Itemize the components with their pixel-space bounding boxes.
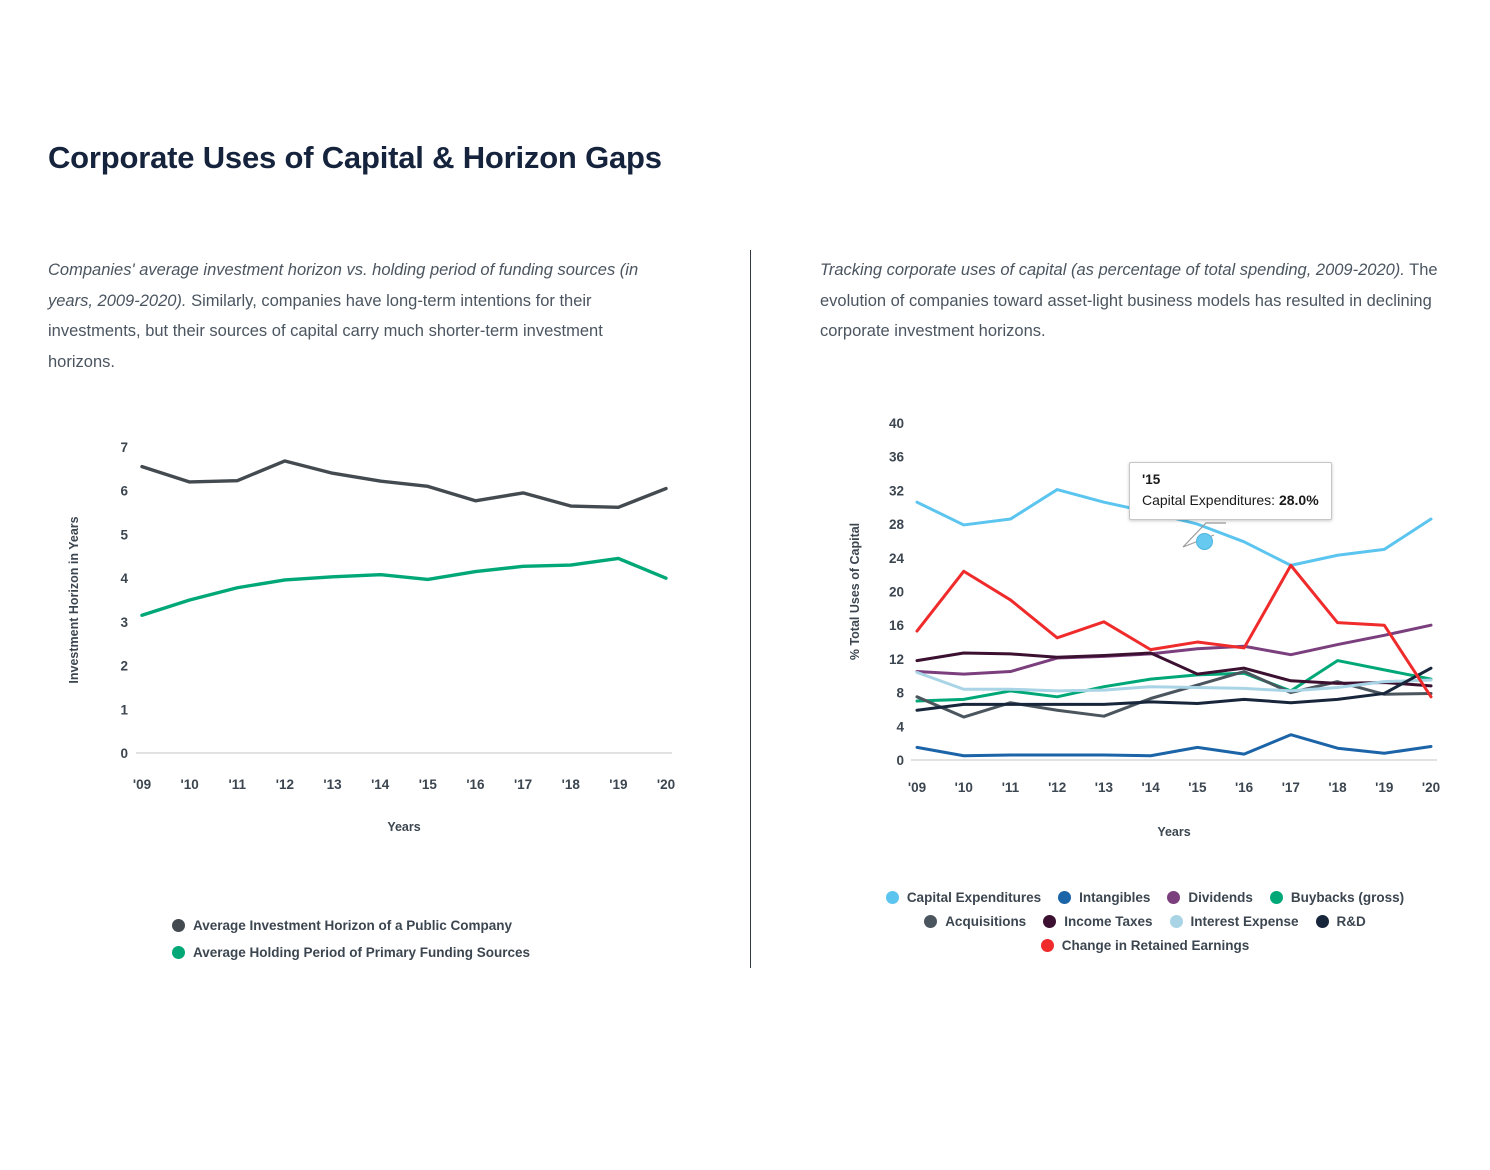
tooltip-data-point-marker: [1196, 533, 1213, 550]
legend-item-change-in-retained-earnings[interactable]: Change in Retained Earnings: [1041, 938, 1250, 953]
legend-item-label: Interest Expense: [1191, 914, 1299, 929]
series-line: [142, 461, 666, 507]
y-axis-tick-label: 28: [889, 517, 905, 532]
x-axis-tick-label: '14: [1142, 780, 1161, 795]
x-axis-tick-label: '17: [1282, 780, 1300, 795]
x-axis-tick-label: '15: [1188, 780, 1207, 795]
y-axis-tick-label: 4: [120, 571, 128, 586]
legend-item-dividends[interactable]: Dividends: [1167, 890, 1253, 905]
legend-item-label: Income Taxes: [1064, 914, 1152, 929]
legend-item-label: Average Holding Period of Primary Fundin…: [193, 945, 530, 960]
y-axis-tick-label: 36: [889, 450, 905, 465]
legend-color-dot-icon: [1043, 915, 1056, 928]
legend-item-average-holding-period-of-primary-funding-sources[interactable]: Average Holding Period of Primary Fundin…: [172, 945, 530, 960]
series-line: [917, 661, 1431, 701]
x-axis-tick-label: '18: [562, 777, 581, 792]
x-axis-title: Years: [387, 820, 420, 834]
y-axis-tick-label: 0: [120, 746, 128, 761]
x-axis-tick-label: '10: [955, 780, 973, 795]
x-axis-title: Years: [1157, 825, 1190, 839]
legend-item-intangibles[interactable]: Intangibles: [1058, 890, 1150, 905]
legend-item-label: Capital Expenditures: [907, 890, 1041, 905]
legend-item-income-taxes[interactable]: Income Taxes: [1043, 914, 1152, 929]
legend-color-dot-icon: [1058, 891, 1071, 904]
legend-item-interest-expense[interactable]: Interest Expense: [1170, 914, 1299, 929]
x-axis-tick-label: '18: [1328, 780, 1347, 795]
legend-row: Change in Retained Earnings: [1041, 938, 1250, 953]
legend-color-dot-icon: [1041, 939, 1054, 952]
legend-item-label: Average Investment Horizon of a Public C…: [193, 918, 512, 933]
x-axis-tick-label: '19: [1375, 780, 1393, 795]
y-axis-tick-label: 8: [896, 686, 904, 701]
legend-item-label: Intangibles: [1079, 890, 1150, 905]
right-panel-description: Tracking corporate uses of capital (as p…: [820, 255, 1460, 347]
legend-color-dot-icon: [1170, 915, 1183, 928]
x-axis-tick-label: '09: [908, 780, 926, 795]
x-axis-tick-label: '15: [419, 777, 438, 792]
legend-color-dot-icon: [1316, 915, 1329, 928]
page-title: Corporate Uses of Capital & Horizon Gaps: [48, 140, 662, 176]
y-axis-tick-label: 24: [889, 551, 905, 566]
legend-row: Capital ExpendituresIntangiblesDividends…: [886, 890, 1404, 905]
y-axis-tick-label: 2: [120, 659, 128, 674]
panel-divider: [750, 250, 751, 968]
legend-item-label: Change in Retained Earnings: [1062, 938, 1250, 953]
investment-horizon-line-chart: 01234567'09'10'11'12'13'14'15'16'17'18'1…: [60, 425, 680, 865]
legend-color-dot-icon: [172, 946, 185, 959]
x-axis-tick-label: '11: [1002, 780, 1020, 795]
legend-row: AcquisitionsIncome TaxesInterest Expense…: [924, 914, 1366, 929]
series-line: [917, 735, 1431, 756]
legend-color-dot-icon: [1270, 891, 1283, 904]
y-axis-tick-label: 16: [889, 618, 905, 633]
series-line: [917, 625, 1431, 674]
chart-tooltip[interactable]: '15 Capital Expenditures: 28.0%: [1129, 462, 1332, 520]
x-axis-tick-label: '20: [657, 777, 675, 792]
y-axis-tick-label: 1: [120, 702, 128, 717]
y-axis-tick-label: 4: [896, 719, 904, 734]
legend-item-label: Acquisitions: [945, 914, 1026, 929]
legend-row: Average Holding Period of Primary Fundin…: [172, 945, 530, 960]
right-description-italic: Tracking corporate uses of capital (as p…: [820, 261, 1405, 279]
left-panel-description: Companies' average investment horizon vs…: [48, 255, 668, 377]
legend-item-acquisitions[interactable]: Acquisitions: [924, 914, 1026, 929]
series-line: [142, 558, 666, 615]
y-axis-title: % Total Uses of Capital: [848, 523, 862, 660]
x-axis-tick-label: '16: [1235, 780, 1254, 795]
legend-item-average-investment-horizon-of-a-public-company[interactable]: Average Investment Horizon of a Public C…: [172, 918, 512, 933]
legend-item-label: Buybacks (gross): [1291, 890, 1404, 905]
y-axis-tick-label: 6: [120, 484, 128, 499]
legend-row: Average Investment Horizon of a Public C…: [172, 918, 512, 933]
y-axis-title: Investment Horizon in Years: [67, 516, 81, 683]
legend-color-dot-icon: [1167, 891, 1180, 904]
right-chart-legend: Capital ExpendituresIntangiblesDividends…: [860, 890, 1430, 962]
x-axis-tick-label: '11: [229, 777, 247, 792]
x-axis-tick-label: '12: [1048, 780, 1066, 795]
y-axis-tick-label: 5: [120, 527, 128, 542]
y-axis-tick-label: 20: [889, 585, 904, 600]
x-axis-tick-label: '13: [1095, 780, 1114, 795]
left-chart-legend: Average Investment Horizon of a Public C…: [172, 918, 530, 972]
legend-item-label: R&D: [1337, 914, 1366, 929]
y-axis-tick-label: 12: [889, 652, 904, 667]
x-axis-tick-label: '16: [466, 777, 485, 792]
x-axis-tick-label: '09: [133, 777, 151, 792]
x-axis-tick-label: '13: [323, 777, 342, 792]
tooltip-body: Capital Expenditures: 28.0%: [1142, 490, 1319, 510]
left-chart-canvas: 01234567'09'10'11'12'13'14'15'16'17'18'1…: [60, 425, 680, 865]
legend-item-r-d[interactable]: R&D: [1316, 914, 1366, 929]
legend-color-dot-icon: [886, 891, 899, 904]
series-line: [917, 653, 1431, 686]
y-axis-tick-label: 3: [120, 615, 128, 630]
tooltip-value: 28.0%: [1279, 492, 1319, 508]
y-axis-tick-label: 32: [889, 483, 904, 498]
legend-item-buybacks-gross[interactable]: Buybacks (gross): [1270, 890, 1404, 905]
tooltip-series-label: Capital Expenditures:: [1142, 492, 1275, 508]
legend-item-label: Dividends: [1188, 890, 1253, 905]
y-axis-tick-label: 40: [889, 416, 904, 431]
tooltip-year: '15: [1142, 470, 1319, 490]
x-axis-tick-label: '17: [514, 777, 532, 792]
x-axis-tick-label: '10: [181, 777, 199, 792]
y-axis-tick-label: 0: [896, 753, 904, 768]
x-axis-tick-label: '14: [371, 777, 390, 792]
legend-color-dot-icon: [172, 919, 185, 932]
x-axis-tick-label: '19: [609, 777, 627, 792]
x-axis-tick-label: '20: [1422, 780, 1440, 795]
legend-color-dot-icon: [924, 915, 937, 928]
x-axis-tick-label: '12: [276, 777, 294, 792]
y-axis-tick-label: 7: [120, 440, 128, 455]
legend-item-capital-expenditures[interactable]: Capital Expenditures: [886, 890, 1041, 905]
